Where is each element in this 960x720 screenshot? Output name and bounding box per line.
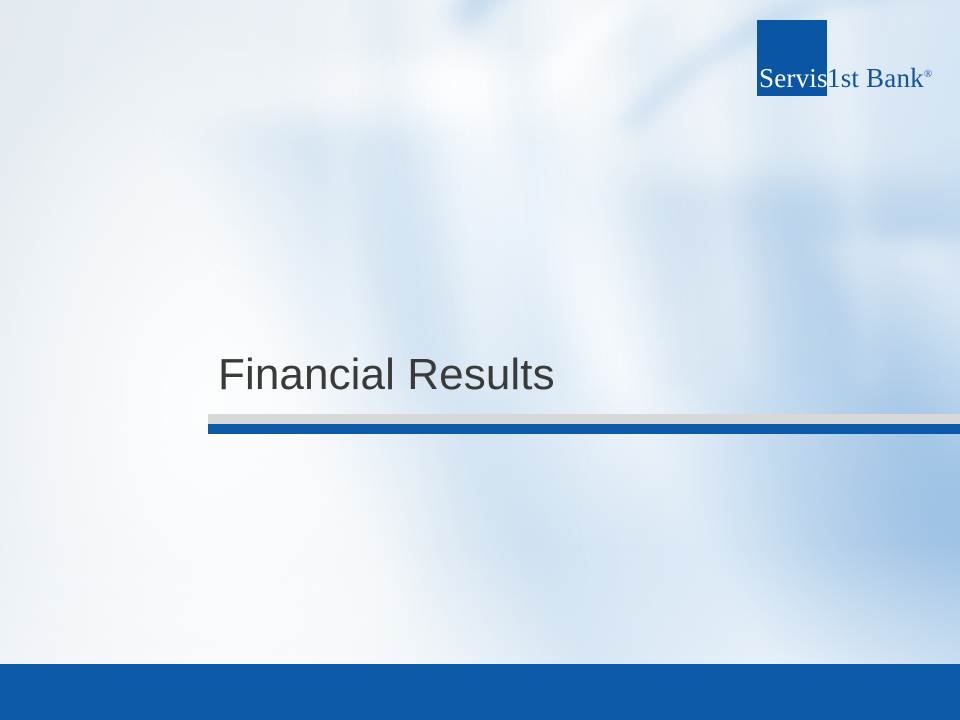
bottom-accent-band: [0, 664, 960, 720]
logo-wordmark: 1st Bank®: [827, 63, 932, 93]
servis1st-bank-logo: Servis 1st Bank®: [757, 20, 933, 96]
divider-blue: [208, 424, 960, 434]
logo-wordmark-text: 1st Bank: [827, 63, 924, 93]
registered-trademark-icon: ®: [924, 68, 933, 80]
divider-gray: [208, 414, 960, 424]
page-title: Financial Results: [218, 349, 555, 401]
title-divider-group: [208, 414, 960, 434]
slide: Servis 1st Bank® Financial Results: [0, 0, 960, 720]
logo-mark-text: Servis: [759, 63, 827, 93]
